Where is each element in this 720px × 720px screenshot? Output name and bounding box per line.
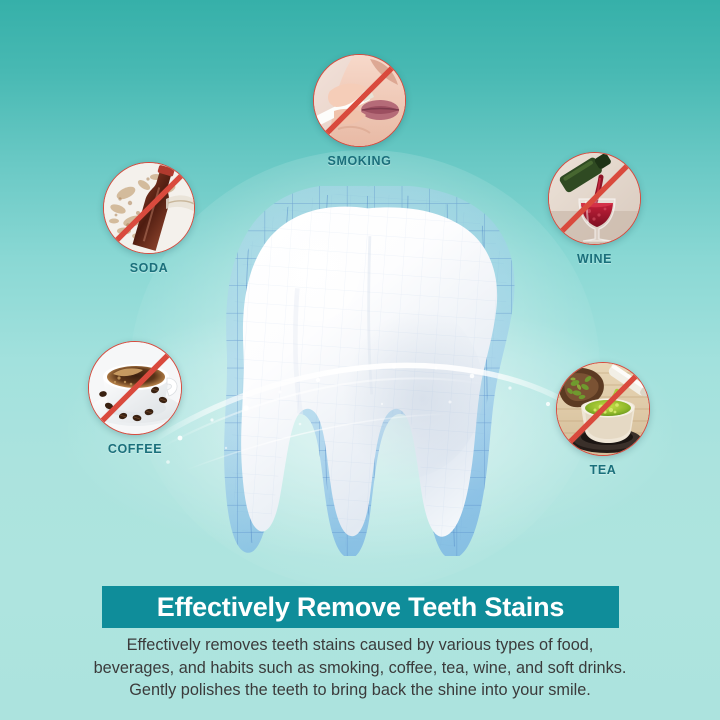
- body-copy: Effectively removes teeth stains caused …: [40, 634, 680, 702]
- wine-photo: [549, 153, 640, 244]
- badge-soda-label: SODA: [103, 261, 195, 275]
- badge-soda[interactable]: SODA: [103, 162, 195, 275]
- headline-banner: Effectively Remove Teeth Stains: [102, 586, 619, 628]
- badge-coffee[interactable]: COFFEE: [88, 341, 182, 456]
- coffee-photo: [89, 342, 181, 434]
- tooth-graphic: [218, 186, 518, 556]
- badge-wine[interactable]: WINE: [548, 152, 641, 266]
- badge-wine-label: WINE: [548, 252, 641, 266]
- no-tea-icon: [556, 362, 650, 456]
- no-coffee-icon: [88, 341, 182, 435]
- no-wine-icon: [548, 152, 641, 245]
- headline-text: Effectively Remove Teeth Stains: [157, 592, 564, 623]
- badge-smoking[interactable]: SMOKING: [313, 54, 406, 168]
- badge-tea[interactable]: TEA: [556, 362, 650, 477]
- body-line-2: beverages, and habits such as smoking, c…: [40, 657, 680, 680]
- tea-photo: [557, 363, 649, 455]
- badge-coffee-label: COFFEE: [88, 442, 182, 456]
- body-line-3: Gently polishes the teeth to bring back …: [40, 679, 680, 702]
- badge-smoking-label: SMOKING: [313, 154, 406, 168]
- smoking-photo: [314, 55, 405, 146]
- no-soda-icon: [103, 162, 195, 254]
- soda-photo: [104, 163, 194, 253]
- body-line-1: Effectively removes teeth stains caused …: [40, 634, 680, 657]
- no-smoking-icon: [313, 54, 406, 147]
- badge-tea-label: TEA: [556, 463, 650, 477]
